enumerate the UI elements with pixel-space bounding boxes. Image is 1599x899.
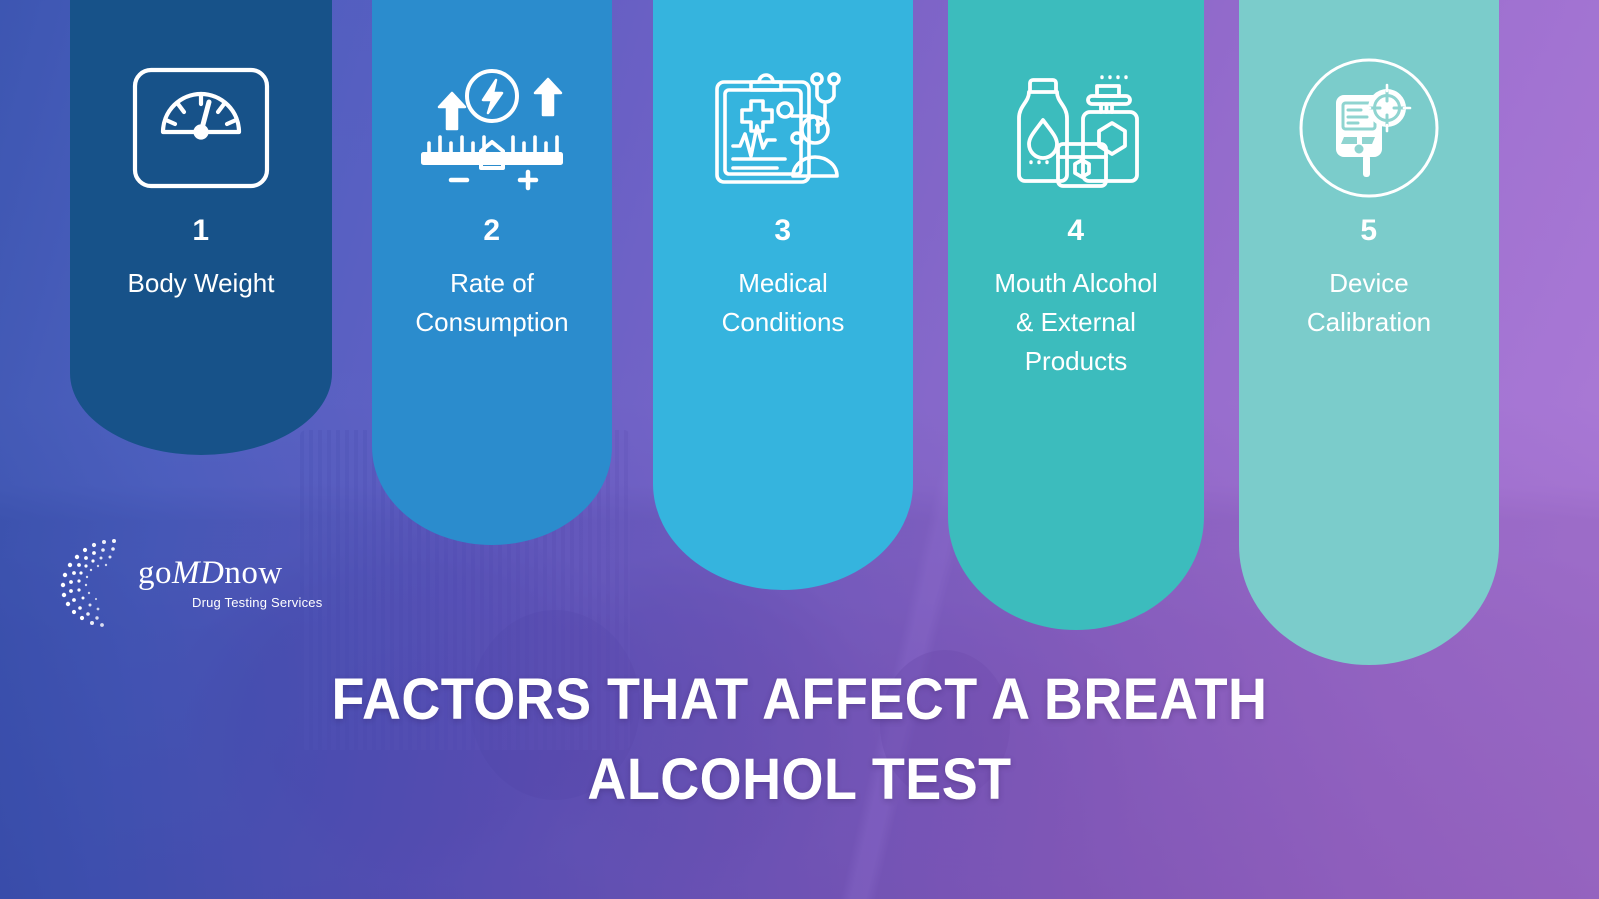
card-label: Body Weight	[118, 264, 285, 303]
card-label: Mouth Alcohol & External Products	[984, 264, 1167, 381]
card-number: 4	[1067, 216, 1084, 246]
bathroom-scale-icon	[121, 58, 281, 198]
card-label: Rate of Consumption	[405, 264, 578, 342]
factor-card-body-weight[interactable]: 1 Body Weight	[70, 0, 332, 455]
infographic-canvas: 1 Body Weight	[0, 0, 1599, 899]
card-number: 2	[483, 216, 500, 246]
brand-logo[interactable]: goMDnow Drug Testing Services	[52, 535, 312, 630]
intensity-slider-icon	[412, 58, 572, 198]
logo-word-md: MD	[172, 555, 224, 591]
page-title: FACTORS THAT AFFECT A BREATH ALCOHOL TES…	[56, 660, 1543, 820]
medical-clipboard-icon	[703, 58, 863, 198]
factor-card-mouth-alcohol[interactable]: 4 Mouth Alcohol & External Products	[948, 0, 1204, 630]
bottles-products-icon	[996, 58, 1156, 198]
factor-card-medical-conditions[interactable]: 3 Medical Conditions	[653, 0, 913, 590]
card-number: 1	[192, 216, 209, 246]
factor-card-device-calibration[interactable]: 5 Device Calibration	[1239, 0, 1499, 665]
breathalyzer-calibration-icon	[1289, 58, 1449, 198]
card-label: Medical Conditions	[712, 264, 855, 342]
logo-wordmark: goMDnow	[138, 555, 283, 592]
logo-word-now: now	[224, 555, 282, 591]
logo-word-go: go	[138, 555, 172, 591]
dotted-arc-icon	[52, 535, 152, 630]
card-number: 3	[774, 216, 791, 246]
factor-card-rate-of-consumption[interactable]: 2 Rate of Consumption	[372, 0, 612, 545]
logo-tagline: Drug Testing Services	[192, 595, 322, 610]
card-number: 5	[1360, 216, 1377, 246]
card-label: Device Calibration	[1297, 264, 1441, 342]
